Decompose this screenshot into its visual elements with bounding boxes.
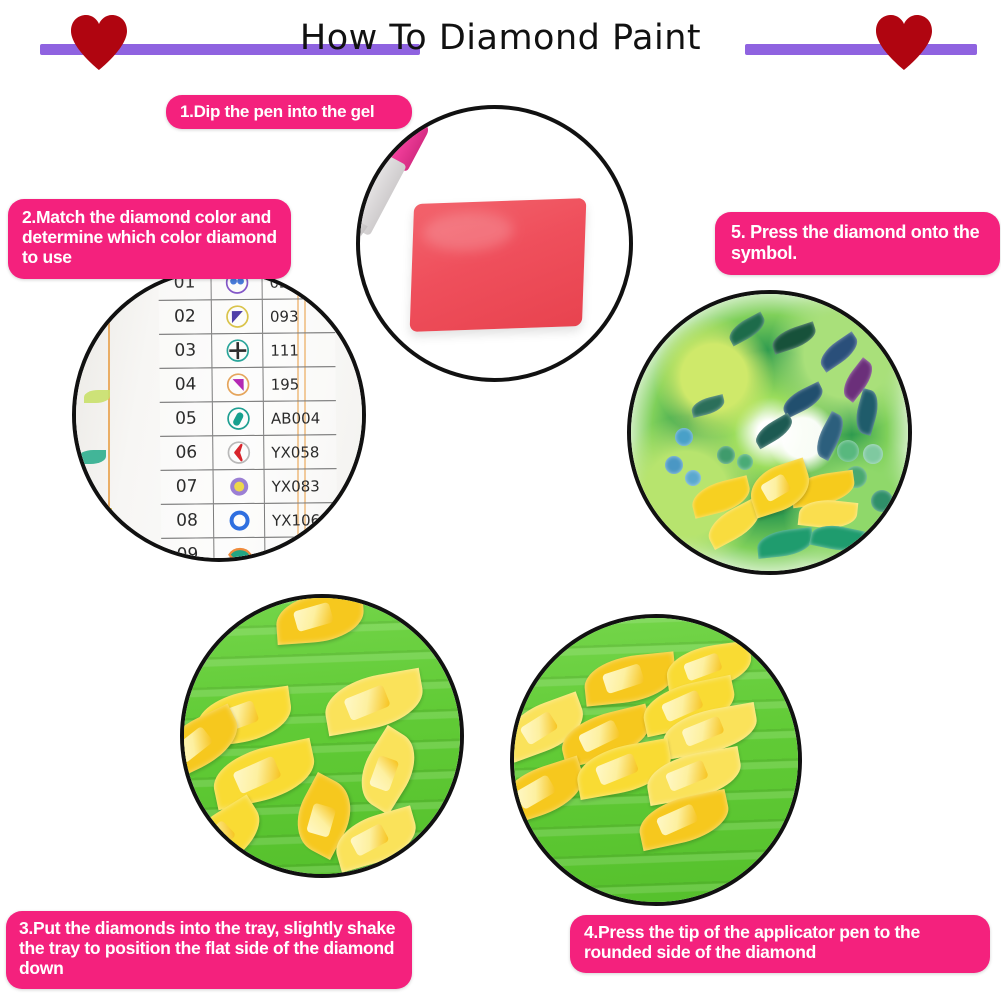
leaf-symbol: [214, 538, 265, 562]
canvas-round-gem: [871, 490, 893, 512]
chart-row: 03111: [159, 332, 335, 369]
chart-row: 09YX125: [161, 536, 337, 562]
chart-row-code: YX083: [265, 477, 337, 496]
step-2-caption: 2.Match the diamond color and determine …: [8, 199, 291, 279]
canvas-round-gem: [685, 470, 701, 486]
chart-row-code: YX106: [265, 511, 337, 530]
chart-row-number: 02: [159, 300, 212, 334]
chart-row-code: YX058: [264, 443, 336, 462]
chart-row-code: AB004: [264, 409, 336, 428]
chart-row: 07YX083: [161, 468, 337, 505]
chart-row-number: 03: [159, 334, 212, 368]
chevron-symbol: [213, 436, 264, 470]
chart-row-code: 093: [263, 307, 335, 326]
chart-row-number: 07: [161, 470, 214, 504]
canvas-round-gem: [737, 454, 753, 470]
plus-symbol: [212, 334, 263, 368]
chart-row-number: 08: [161, 504, 214, 538]
triangle-symbol: [212, 300, 263, 334]
color-chart-table: 0102802093031110419505AB00406YX05807YX08…: [158, 268, 337, 562]
canvas-round-gem: [675, 428, 693, 446]
chart-row: 04195: [159, 366, 335, 403]
chart-row: 02093: [159, 298, 335, 335]
slash-symbol: [213, 402, 264, 436]
step-5-caption: 5. Press the diamond onto the symbol.: [715, 212, 1000, 275]
canvas-round-gem: [665, 456, 683, 474]
canvas-round-gem: [863, 444, 883, 464]
chart-row-number: 09: [161, 538, 214, 562]
ring-symbol: [214, 504, 265, 538]
chart-row-number: 06: [160, 436, 213, 470]
step-1-caption: 1.Dip the pen into the gel: [166, 95, 412, 129]
chart-row: 05AB004: [160, 400, 336, 437]
canvas-round-gem: [837, 440, 859, 462]
chart-row-code: YX125: [265, 545, 337, 562]
dot-in-ring-symbol: [214, 470, 265, 504]
page-title: How To Diamond Paint: [0, 18, 1001, 58]
chart-row-code: 195: [264, 375, 336, 394]
photo-dip-pen-into-gel: [356, 105, 633, 382]
header-banner: How To Diamond Paint: [0, 0, 1001, 90]
chart-row-number: 04: [159, 368, 212, 402]
chart-row: 08YX106: [161, 502, 337, 539]
chart-row-code: 111: [263, 341, 335, 360]
photo-diamonds-in-tray: [180, 594, 464, 878]
step-3-caption: 3.Put the diamonds into the tray, slight…: [6, 911, 412, 989]
canvas-round-gem: [717, 446, 735, 464]
photo-press-diamond-on-symbol: [627, 290, 912, 575]
photo-pen-picks-diamond: [510, 614, 802, 906]
gel-pad: [410, 198, 587, 332]
photo-color-chart: 0102802093031110419505AB00406YX05807YX08…: [72, 268, 366, 562]
triangle-symbol: [212, 368, 263, 402]
step-4-caption: 4.Press the tip of the applicator pen to…: [570, 915, 990, 973]
chart-row-number: 05: [160, 402, 213, 436]
chart-row: 06YX058: [160, 434, 336, 471]
